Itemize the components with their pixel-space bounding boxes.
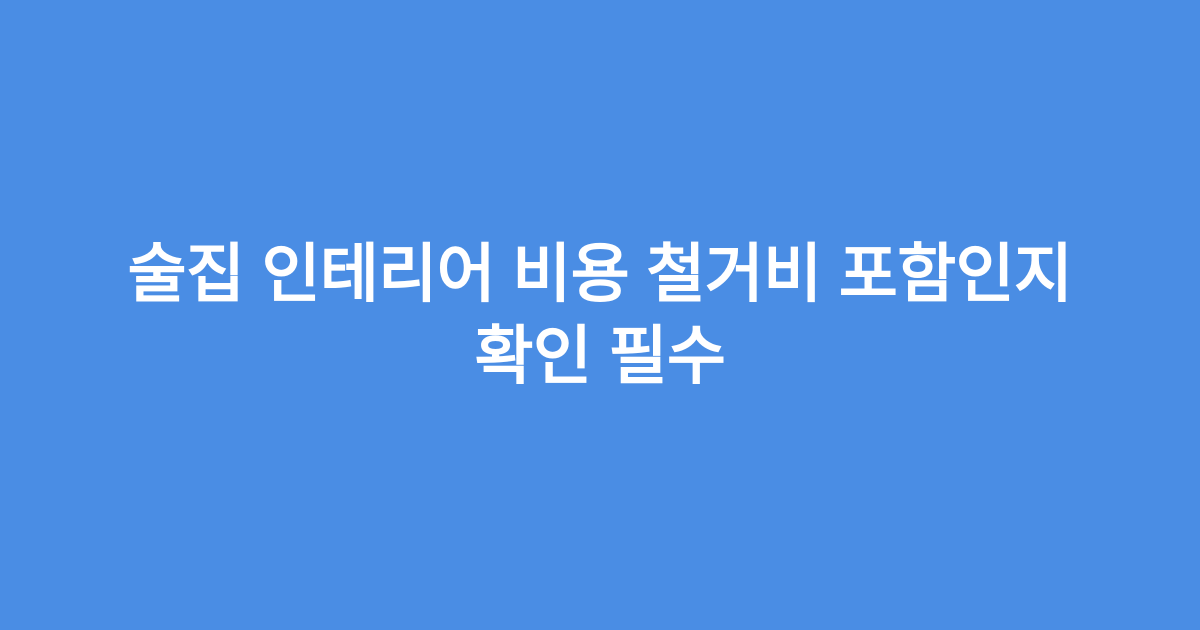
title-line-2: 확인 필수	[60, 315, 1140, 397]
title-line-1: 술집 인테리어 비용 철거비 포함인지	[60, 233, 1140, 315]
page-title: 술집 인테리어 비용 철거비 포함인지 확인 필수	[60, 233, 1140, 397]
og-image-card: 술집 인테리어 비용 철거비 포함인지 확인 필수	[0, 0, 1200, 630]
